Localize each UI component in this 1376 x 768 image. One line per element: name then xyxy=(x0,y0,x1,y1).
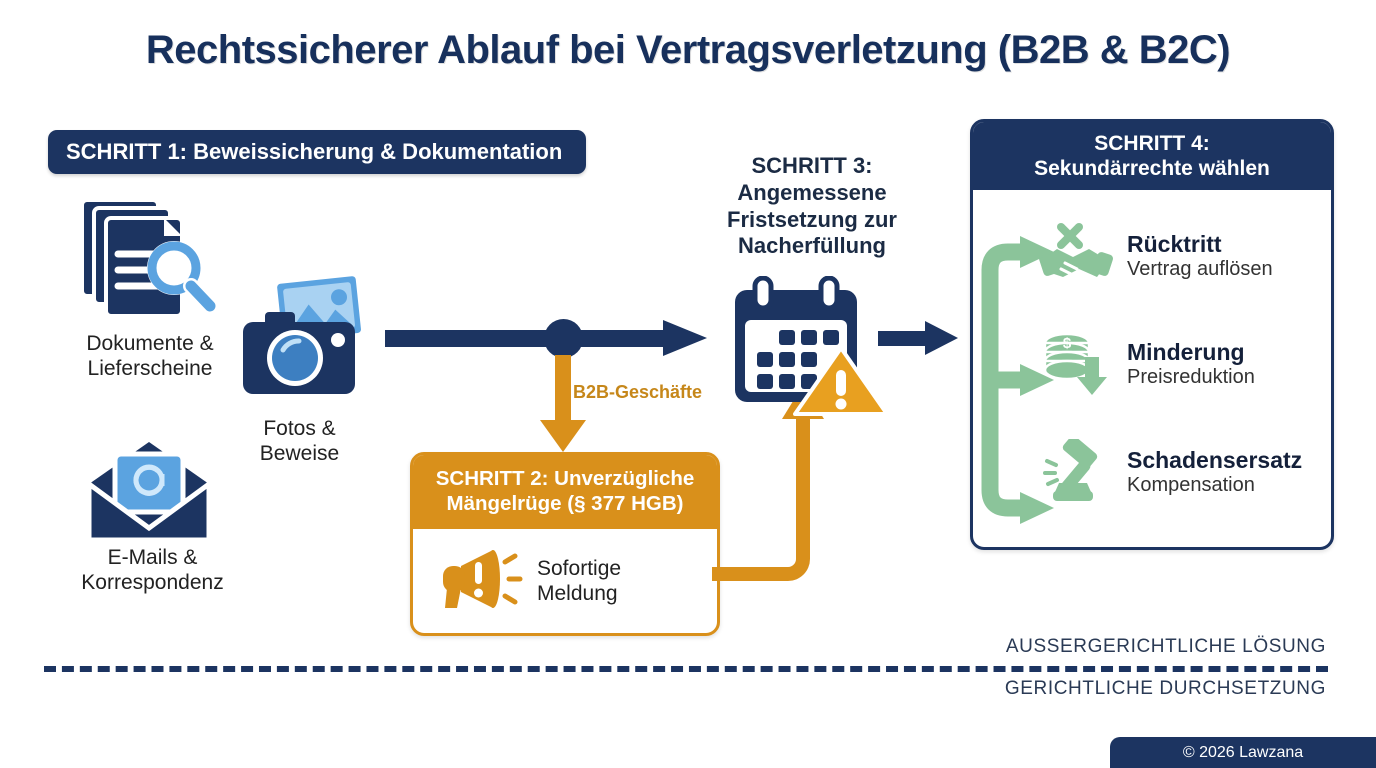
main-flow-arrow-shaft xyxy=(385,330,670,347)
evidence-label-documents-line2: Lieferscheine xyxy=(45,357,255,382)
evidence-label-photos-line2: Beweise xyxy=(222,442,377,467)
divider-label-above: AUSSERGERICHTLICHE LÖSUNG xyxy=(996,636,1326,658)
step3-line2: Angemessene xyxy=(697,180,927,207)
step2-header-line2: Mängelrüge (§ 377 HGB) xyxy=(436,492,695,517)
documents-magnifier-icon xyxy=(74,196,224,324)
b2b-branch-label: B2B-Geschäfte xyxy=(573,382,702,403)
evidence-label-photos-line1: Fotos & xyxy=(222,417,377,442)
step4-option-text: Rücktritt Vertrag auflösen xyxy=(1127,231,1273,281)
calendar-warning-icon xyxy=(729,276,891,416)
step2-body: Sofortige Meldung xyxy=(413,529,717,633)
step2-body-line1: Sofortige xyxy=(537,556,621,581)
evidence-label-documents: Dokumente & Lieferscheine xyxy=(45,332,255,382)
email-envelope-icon xyxy=(85,440,213,544)
megaphone-alert-icon xyxy=(431,548,523,615)
evidence-label-emails-line1: E-Mails & xyxy=(50,546,255,571)
step4-option-subtitle: Vertrag auflösen xyxy=(1127,257,1273,281)
divider-label-below: GERICHTLICHE DURCHSETZUNG xyxy=(996,678,1326,700)
step3-line4: Nacherfüllung xyxy=(697,233,927,260)
evidence-label-emails-line2: Korrespondenz xyxy=(50,571,255,596)
step2-header: SCHRITT 2: Unverzügliche Mängelrüge (§ 3… xyxy=(413,455,717,529)
step4-option-subtitle: Kompensation xyxy=(1127,473,1302,497)
step4-option-subtitle: Preisreduktion xyxy=(1127,365,1255,389)
camera-photo-icon xyxy=(237,270,365,405)
step4-header-line1: SCHRITT 4: xyxy=(1034,131,1270,156)
step4-green-branch-arrows xyxy=(962,230,1072,530)
step2-card: SCHRITT 2: Unverzügliche Mängelrüge (§ 3… xyxy=(410,452,720,636)
step4-option-title: Schadensersatz xyxy=(1127,447,1302,473)
step4-option-title: Minderung xyxy=(1127,339,1255,365)
step3-line1: SCHRITT 3: xyxy=(697,153,927,180)
step2-body-line2: Meldung xyxy=(537,581,621,606)
step4-header: SCHRITT 4: Sekundärrechte wählen xyxy=(973,122,1331,190)
step4-header-line2: Sekundärrechte wählen xyxy=(1034,156,1270,181)
jurisdiction-divider xyxy=(44,666,1328,672)
step3-to-step4-arrow-head xyxy=(925,321,958,355)
step2-body-text: Sofortige Meldung xyxy=(537,556,621,606)
step3-to-step4-arrow-shaft xyxy=(878,331,930,346)
footer-copyright-badge: © 2026 Lawzana xyxy=(1110,737,1376,768)
evidence-label-documents-line1: Dokumente & xyxy=(45,332,255,357)
b2b-branch-shaft xyxy=(555,355,571,427)
evidence-label-emails: E-Mails & Korrespondenz xyxy=(50,546,255,596)
page-title: Rechtssicherer Ablauf bei Vertragsverlet… xyxy=(0,28,1376,73)
step4-option-text: Schadensersatz Kompensation xyxy=(1127,447,1302,497)
step2-header-line1: SCHRITT 2: Unverzügliche xyxy=(436,467,695,492)
b2b-branch-arrowhead xyxy=(540,420,586,452)
main-flow-arrow-head xyxy=(663,320,707,356)
step1-header-badge: SCHRITT 1: Beweissicherung & Dokumentati… xyxy=(48,130,586,174)
step1-header-label: SCHRITT 1: Beweissicherung & Dokumentati… xyxy=(48,139,562,165)
step4-option-text: Minderung Preisreduktion xyxy=(1127,339,1255,389)
step3-label: SCHRITT 3: Angemessene Fristsetzung zur … xyxy=(697,153,927,260)
flow-junction-dot xyxy=(544,319,583,358)
evidence-label-photos: Fotos & Beweise xyxy=(222,417,377,467)
return-path-vertical xyxy=(796,418,810,528)
step3-line3: Fristsetzung zur xyxy=(697,207,927,234)
footer-copyright-label: © 2026 Lawzana xyxy=(1183,744,1303,762)
step4-option-title: Rücktritt xyxy=(1127,231,1273,257)
